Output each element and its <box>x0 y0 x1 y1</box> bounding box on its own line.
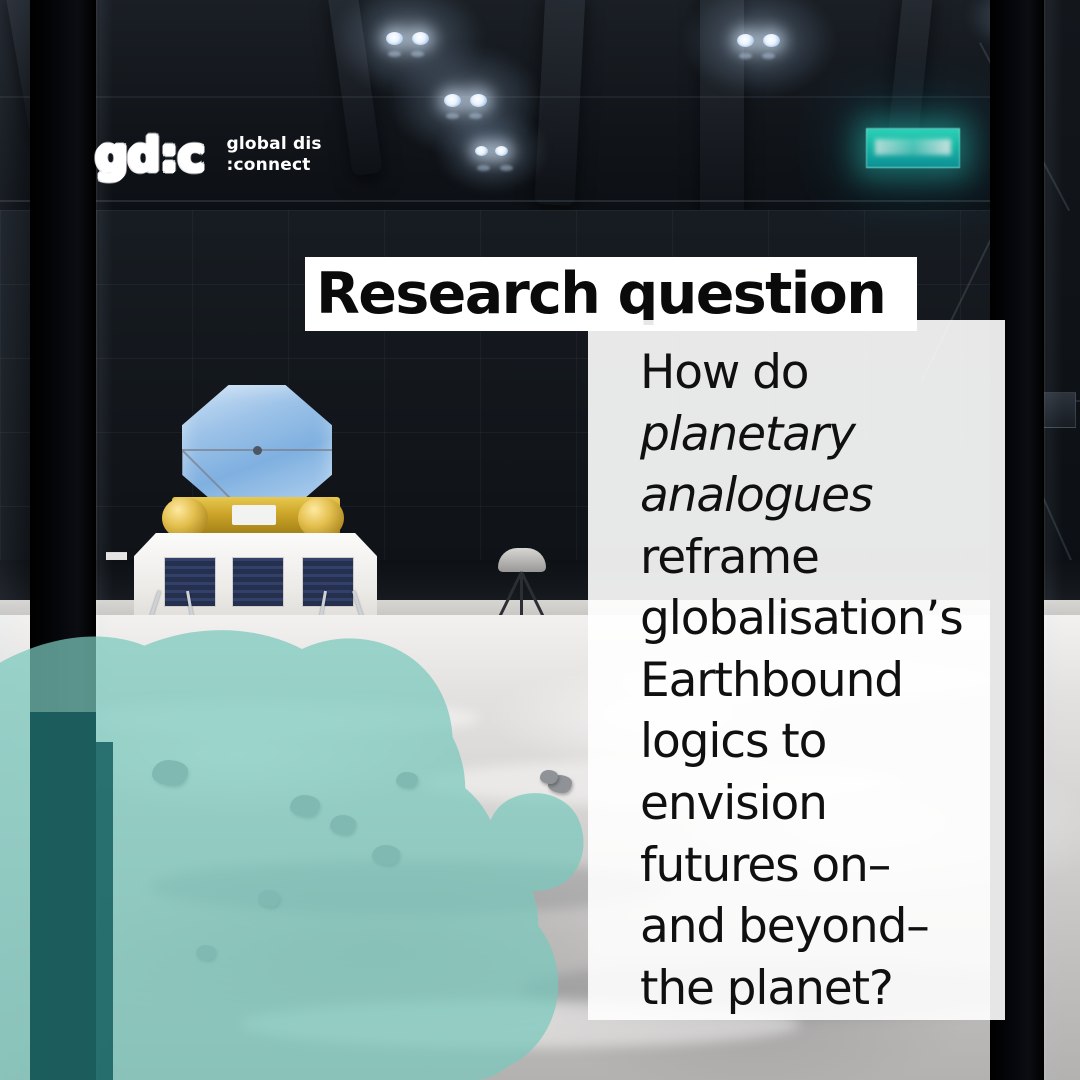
rock <box>258 890 280 907</box>
ceiling-light <box>737 34 780 47</box>
rock <box>372 845 400 865</box>
dune-ridge <box>60 700 480 736</box>
gold-tank <box>298 497 344 539</box>
ceiling-light <box>386 32 429 45</box>
research-question-panel: How do planetary analogues reframe globa… <box>588 320 1005 1020</box>
ceiling-light <box>444 94 487 107</box>
rock <box>152 760 188 786</box>
ceiling-rail <box>0 200 1080 202</box>
question-part-regular-2: reframe globalisation’s Earthbound logic… <box>640 530 963 1016</box>
deck-label-plate <box>232 505 276 525</box>
solar-panel <box>302 557 354 607</box>
brand-wordmark: global dis :connect <box>227 134 322 175</box>
gold-tank <box>162 497 208 539</box>
rock <box>540 770 558 784</box>
foreground-pillar-left <box>30 0 96 1080</box>
rock <box>290 795 320 817</box>
wordmark-line-1: global dis <box>227 134 322 154</box>
rock <box>330 815 356 835</box>
gdc-dotted-logo-icon: gd:c <box>95 132 205 178</box>
rock <box>396 772 418 788</box>
brand-logo[interactable]: gd:c global dis :connect <box>95 132 322 178</box>
question-part-regular-1: How do <box>640 345 808 400</box>
rock <box>196 945 216 960</box>
ceiling-light <box>475 146 508 156</box>
social-post-canvas: gd:c global dis :connect Research questi… <box>0 0 1080 1080</box>
solar-panel <box>232 557 284 607</box>
research-question-text: How do planetary analogues reframe globa… <box>640 342 981 1019</box>
question-part-italic: planetary analogues <box>640 407 872 524</box>
wordmark-line-2: :connect <box>227 155 311 175</box>
glass-reflection <box>0 0 32 1080</box>
dish-antenna-icon <box>182 385 332 515</box>
exit-sign-icon <box>866 128 960 168</box>
glass-reflection <box>1047 0 1063 1080</box>
page-title: Research question <box>305 266 885 323</box>
